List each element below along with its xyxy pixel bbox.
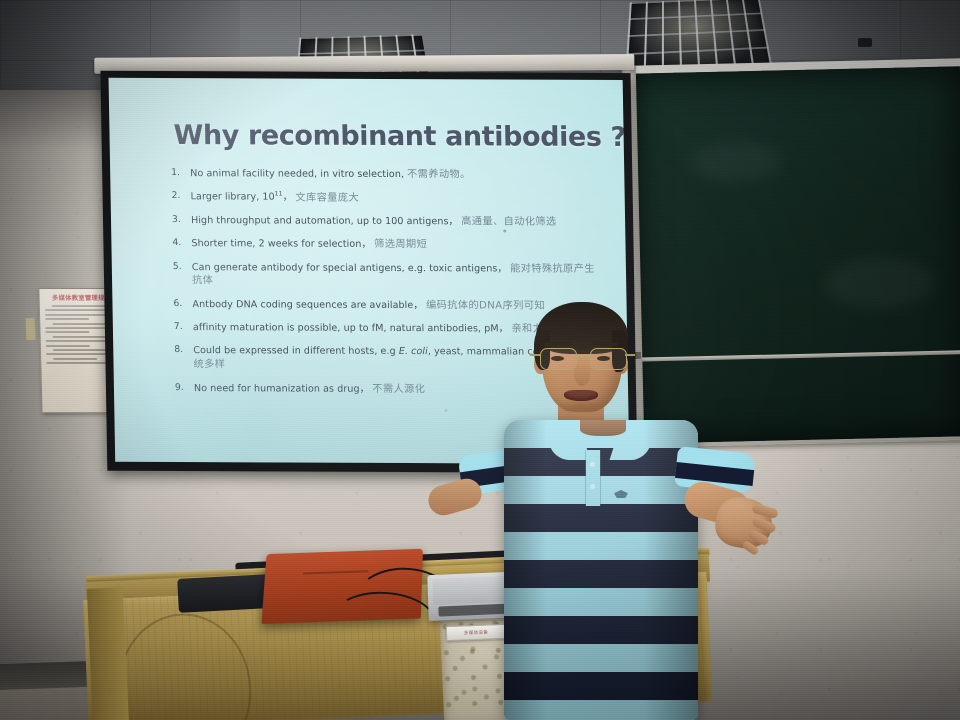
nose xyxy=(574,362,590,386)
slide-item-en: No need for humanization as drug， xyxy=(194,383,369,395)
slide-item-en: Larger library, 10 xyxy=(191,192,275,203)
slide-item-en: No animal facility needed, in vitro sele… xyxy=(190,168,404,180)
slide-item-4: Shorter time, 2 weeks for selection， 筛选周… xyxy=(191,237,599,253)
torso-polo-shirt xyxy=(504,420,698,720)
slide-item-en: High throughput and automation, up to 10… xyxy=(191,215,458,227)
laptop-lid-crease xyxy=(303,570,369,574)
slide-item-5: Can generate antibody for special antige… xyxy=(192,261,601,290)
lecture-hall-photo: 多媒体教室管理规定 xyxy=(0,0,960,720)
slide-item-cn: 筛选周期短 xyxy=(374,239,427,250)
glasses-temple-left xyxy=(530,354,540,356)
glasses-temple-right xyxy=(625,354,635,356)
podium-side-panel xyxy=(87,587,129,720)
lens-left xyxy=(540,348,577,370)
notice-text-line xyxy=(45,318,89,320)
screen-dust-speck xyxy=(503,229,506,232)
glasses-bridge xyxy=(575,355,590,357)
slide-item-1: No animal facility needed, in vitro sele… xyxy=(190,167,598,183)
sleeve-stripe xyxy=(675,462,754,486)
slide-item-cn: 不需养动物。 xyxy=(407,169,471,180)
slide-title-text: Why recombinant antibodies ? xyxy=(173,120,626,153)
slide-item-cn: 不需人源化 xyxy=(372,383,425,394)
slide-item-en: Antbody DNA coding sequences are availab… xyxy=(192,299,423,311)
slide-item-cn: 文库容量庞大 xyxy=(295,192,359,203)
slide-item-en2: ， xyxy=(283,192,293,203)
slide-item-en-italic: E. coli xyxy=(399,346,428,357)
wall-sticker xyxy=(26,318,36,340)
slide-item-en-pre: Could be expressed in different hosts, e… xyxy=(193,346,399,358)
slide-item-3: High throughput and automation, up to 10… xyxy=(191,214,599,230)
slide-item-en: Shorter time, 2 weeks for selection， xyxy=(191,238,371,250)
slide-item-en: Can generate antibody for special antige… xyxy=(192,262,507,274)
chin-shading xyxy=(554,400,610,414)
slide-item-2: Larger library, 1011， 文库容量庞大 xyxy=(191,190,599,206)
notice-text-line xyxy=(45,331,89,333)
chalk-smudge xyxy=(824,257,935,309)
chalk-smudge xyxy=(691,140,782,182)
speaker-person xyxy=(430,300,790,720)
slide-title: Why recombinant antibodies ?. xyxy=(173,120,598,153)
notice-text-line xyxy=(46,345,90,347)
torso-shading xyxy=(504,420,698,720)
slide-item-cn: 高通量、自动化筛选 xyxy=(461,216,557,227)
slide-item-superscript: 11 xyxy=(275,191,283,198)
left-forearm xyxy=(425,475,485,519)
lens-right xyxy=(590,348,627,370)
